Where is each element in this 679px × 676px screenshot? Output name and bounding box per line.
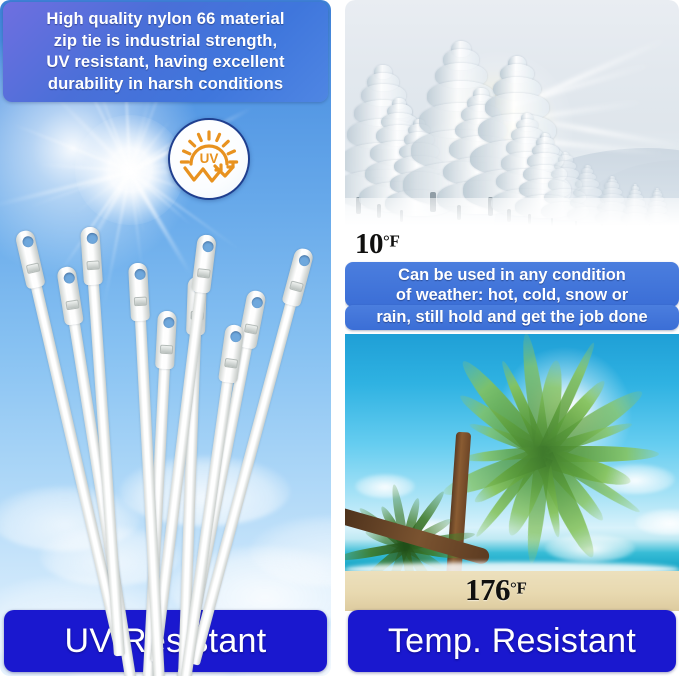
hot-temp-unit: °F: [510, 579, 527, 598]
cold-temp-value: 10: [355, 228, 383, 260]
svg-text:UV: UV: [200, 151, 219, 166]
zip-tie-latch: [160, 345, 173, 355]
hot-temp-value: 176: [465, 572, 510, 607]
beach-scene: [345, 334, 679, 611]
zip-tie-group: [0, 225, 331, 676]
uv-description-banner: High quality nylon 66 material zip tie i…: [3, 2, 328, 102]
uv-description-line-4: durability in harsh conditions: [9, 73, 322, 95]
uv-resistant-panel: UV High quality nylon 66 material zip ti…: [0, 0, 331, 676]
weather-banner-top: Can be used in any condition of weather:…: [345, 262, 679, 307]
zip-tie-latch: [86, 260, 100, 270]
zip-tie-latch: [224, 358, 238, 369]
weather-line-3: rain, still hold and get the job done: [349, 307, 675, 327]
uv-description-line-2: zip tie is industrial strength,: [9, 30, 322, 52]
temp-resistant-label: Temp. Resistant: [388, 622, 636, 661]
cold-temp-unit: °F: [383, 232, 400, 251]
cold-temperature-readout: 10°F: [355, 228, 400, 261]
uv-description-line-3: UV resistant, having excellent: [9, 51, 322, 73]
zip-tie-latch: [197, 268, 211, 279]
uv-description-line-1: High quality nylon 66 material: [9, 8, 322, 30]
temp-resistant-label-bar: Temp. Resistant: [348, 610, 676, 672]
uv-sun-icon: UV: [168, 118, 250, 200]
hot-temperature-readout: 176°F: [465, 572, 527, 608]
zip-tie-latch: [134, 297, 147, 307]
weather-line-2: of weather: hot, cold, snow or: [349, 285, 675, 305]
zip-tie-head: [281, 247, 314, 308]
weather-banner-bottom: rain, still hold and get the job done: [345, 305, 679, 330]
weather-line-1: Can be used in any condition: [349, 265, 675, 285]
product-infographic: UV High quality nylon 66 material zip ti…: [0, 0, 679, 676]
temp-resistant-panel: 10°F Can be used in any condition of wea…: [345, 0, 679, 676]
